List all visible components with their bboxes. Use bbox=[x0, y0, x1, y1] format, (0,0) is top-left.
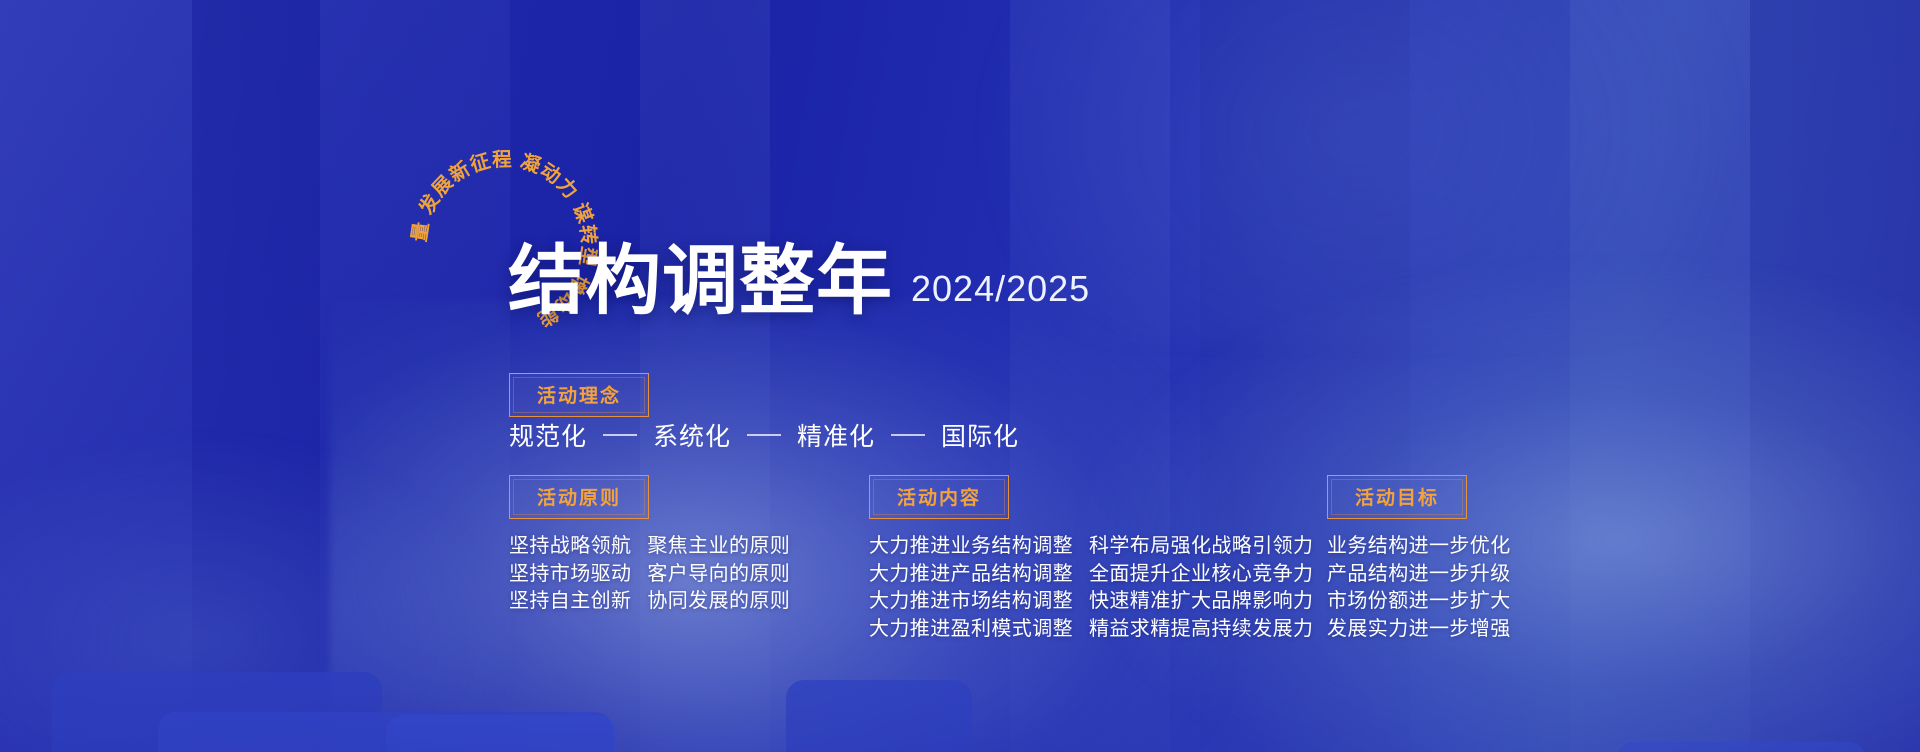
badge-concept[interactable]: 活动理念 bbox=[509, 373, 649, 417]
decor-block-6 bbox=[1616, 742, 1866, 752]
concept-item-3: 国际化 bbox=[941, 417, 1019, 453]
table-row: 坚持自主创新 协同发展的原则 bbox=[509, 588, 790, 616]
row-text-a: 坚持市场驱动 bbox=[509, 561, 631, 589]
row-text-b: 协同发展的原则 bbox=[647, 588, 790, 616]
row-text-a: 大力推进盈利模式调整 bbox=[869, 616, 1073, 644]
badge-goals[interactable]: 活动目标 bbox=[1327, 475, 1467, 519]
page-title: 结构调整年 bbox=[508, 246, 893, 319]
concept-separator-1 bbox=[747, 434, 781, 436]
row-text-b: 快速精准扩大品牌影响力 bbox=[1089, 588, 1313, 616]
badge-content[interactable]: 活动内容 bbox=[869, 475, 1009, 519]
content-rows: 大力推进业务结构调整 科学布局强化战略引领力 大力推进产品结构调整 全面提升企业… bbox=[869, 533, 1313, 643]
row-text-a: 大力推进业务结构调整 bbox=[869, 533, 1073, 561]
decor-block-3 bbox=[386, 715, 616, 752]
row-text-b: 精益求精提高持续发展力 bbox=[1089, 616, 1313, 644]
table-row: 大力推进业务结构调整 科学布局强化战略引领力 bbox=[869, 533, 1313, 561]
column-principles: 活动原则 坚持战略领航 聚焦主业的原则 坚持市场驱动 客户导向的原则 坚持自主创… bbox=[509, 475, 790, 616]
table-row: 产品结构进一步升级 bbox=[1327, 561, 1511, 589]
column-content: 活动内容 大力推进业务结构调整 科学布局强化战略引领力 大力推进产品结构调整 全… bbox=[869, 475, 1313, 643]
goals-rows: 业务结构进一步优化 产品结构进一步升级 市场份额进一步扩大 发展实力进一步增强 bbox=[1327, 533, 1511, 643]
row-text-b: 科学布局强化战略引领力 bbox=[1089, 533, 1313, 561]
row-text-b: 聚焦主业的原则 bbox=[647, 533, 790, 561]
campaign-banner: 奋进高质量 发展新征程 凝动力 谋转型 增动能 结构调整年 2024/2025 … bbox=[0, 0, 1920, 752]
concept-item-0: 规范化 bbox=[509, 417, 587, 453]
column-goals: 活动目标 业务结构进一步优化 产品结构进一步升级 市场份额进一步扩大 发展实力进… bbox=[1327, 475, 1511, 643]
principles-rows: 坚持战略领航 聚焦主业的原则 坚持市场驱动 客户导向的原则 坚持自主创新 协同发… bbox=[509, 533, 790, 616]
row-text-a: 市场份额进一步扩大 bbox=[1327, 588, 1511, 616]
concept-separator-0 bbox=[603, 434, 637, 436]
badge-principles[interactable]: 活动原则 bbox=[509, 475, 649, 519]
row-text-a: 产品结构进一步升级 bbox=[1327, 561, 1511, 589]
decor-block-4 bbox=[786, 680, 972, 752]
row-text-a: 坚持战略领航 bbox=[509, 533, 631, 561]
headline-row: 结构调整年 2024/2025 bbox=[508, 246, 1090, 319]
row-text-b: 全面提升企业核心竞争力 bbox=[1089, 561, 1313, 589]
table-row: 大力推进产品结构调整 全面提升企业核心竞争力 bbox=[869, 561, 1313, 589]
concept-item-2: 精准化 bbox=[797, 417, 875, 453]
table-row: 业务结构进一步优化 bbox=[1327, 533, 1511, 561]
row-text-a: 坚持自主创新 bbox=[509, 588, 631, 616]
row-text-a: 大力推进产品结构调整 bbox=[869, 561, 1073, 589]
concept-list: 规范化 系统化 精准化 国际化 bbox=[509, 417, 1019, 453]
table-row: 发展实力进一步增强 bbox=[1327, 616, 1511, 644]
row-text-b: 客户导向的原则 bbox=[647, 561, 790, 589]
row-text-a: 大力推进市场结构调整 bbox=[869, 588, 1073, 616]
row-text-a: 业务结构进一步优化 bbox=[1327, 533, 1511, 561]
table-row: 坚持市场驱动 客户导向的原则 bbox=[509, 561, 790, 589]
table-row: 大力推进盈利模式调整 精益求精提高持续发展力 bbox=[869, 616, 1313, 644]
concept-separator-2 bbox=[891, 434, 925, 436]
table-row: 坚持战略领航 聚焦主业的原则 bbox=[509, 533, 790, 561]
row-text-a: 发展实力进一步增强 bbox=[1327, 616, 1511, 644]
table-row: 市场份额进一步扩大 bbox=[1327, 588, 1511, 616]
concept-item-1: 系统化 bbox=[653, 417, 731, 453]
headline-year: 2024/2025 bbox=[911, 268, 1090, 319]
table-row: 大力推进市场结构调整 快速精准扩大品牌影响力 bbox=[869, 588, 1313, 616]
